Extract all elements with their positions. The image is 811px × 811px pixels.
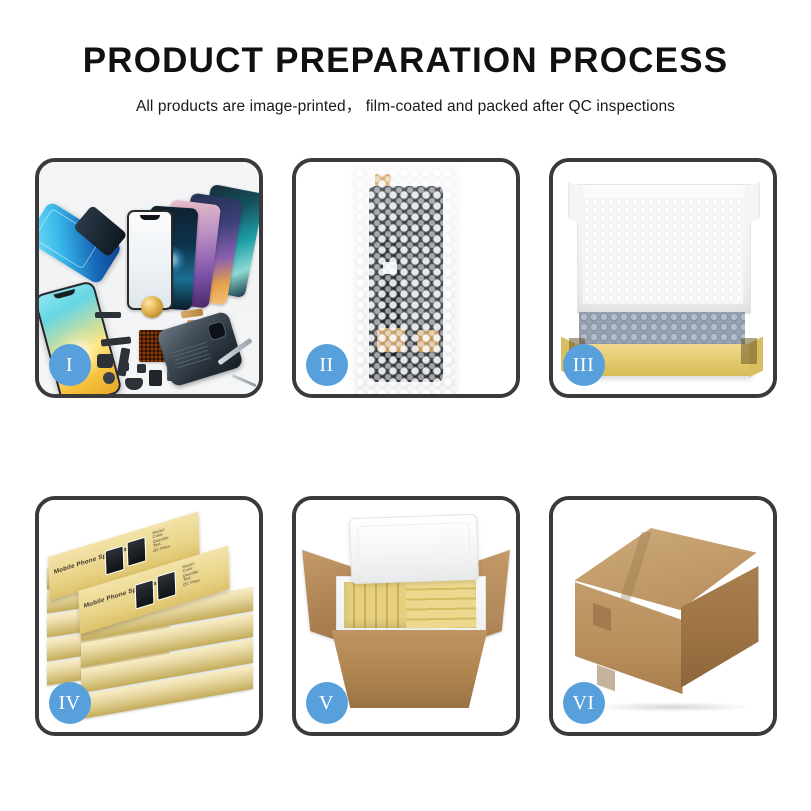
carton-body [332,630,488,708]
step-card-i: I [35,158,263,398]
small-component [137,364,146,373]
housing-detail-lines [171,342,211,372]
small-component [125,378,143,390]
step-badge-iii: III [563,344,605,386]
small-component [97,354,113,368]
small-component [119,362,129,371]
small-component [103,372,115,384]
flex-cable-part [100,336,131,346]
box-screen-graphic [134,579,154,610]
box-corner-tab [741,338,757,364]
foam-lid [348,514,478,584]
process-step-grid: I II III [0,158,811,736]
gold-connector-part [180,309,203,319]
page-title: PRODUCT PREPARATION PROCESS [0,42,811,81]
bubble-wrap-bag [355,168,457,394]
box-screen-graphic [156,570,176,601]
carton-shadow [593,702,753,712]
step-badge-iv: IV [49,682,91,724]
box-screen-graphic [104,545,124,576]
step-badge-ii: II [306,344,348,386]
notch-shape [53,289,76,300]
box-screen-graphic [126,536,146,567]
page-subtitle: All products are image-printed， film-coa… [0,94,811,116]
notch-shape [140,215,160,220]
foam-sheet [583,198,743,304]
step-card-ii: II [292,158,520,398]
bubble-texture-highlight [355,168,457,394]
step-badge-vi: VI [563,682,605,724]
box-spec-text: Model: Color: Quantity: Test: QC Pass: [152,526,170,553]
step-card-v: V [292,496,520,736]
flex-cable-part [95,312,121,318]
step-card-vi: VI [549,496,777,736]
bubble-wrap-layer [579,312,745,348]
phone-screen-fan [125,188,259,308]
box-spec-text: Model: Color: Quantity: Test: QC Pass: [182,560,200,587]
header: PRODUCT PREPARATION PROCESS All products… [0,0,811,116]
small-component [149,370,162,386]
camera-module-shape [206,320,227,341]
step-card-iv: Mobile Phone Spare Parts Model: Color: Q… [35,496,263,736]
speaker-mesh-icon [141,296,163,318]
step-card-iii: III [549,158,777,398]
step-badge-i: I [49,344,91,386]
step-badge-v: V [306,682,348,724]
gold-boxes-row [405,579,476,628]
